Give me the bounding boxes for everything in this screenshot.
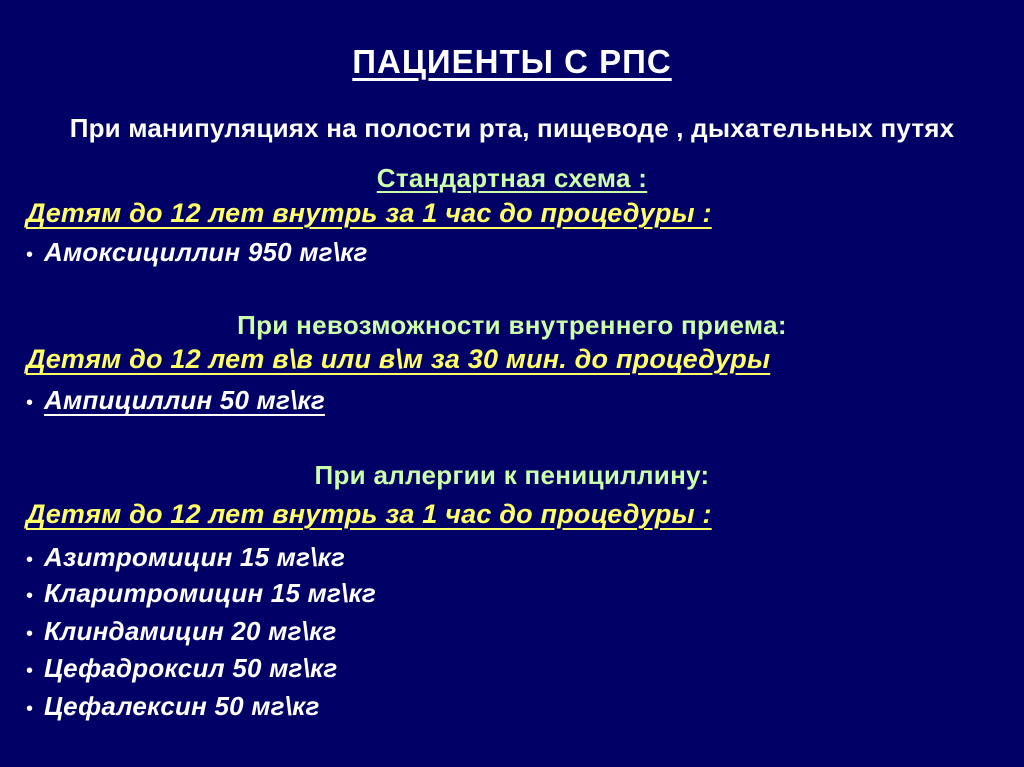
list-item-label: Азитромицин 15 мг\кг xyxy=(44,542,345,573)
section-3-heading-text: При аллергии к пенициллину: xyxy=(315,460,710,491)
list-item: • Азитромицин 15 мг\кг xyxy=(0,542,1024,573)
section-1-subheading-text: Детям до 12 лет внутрь за 1 час до проце… xyxy=(26,198,712,229)
bullet-icon: • xyxy=(0,550,44,570)
list-item-label: Цефадроксил 50 мг\кг xyxy=(44,653,337,684)
section-3-subheading: Детям до 12 лет внутрь за 1 час до проце… xyxy=(0,499,1024,530)
intro-line-text: При манипуляциях на полости рта, пищевод… xyxy=(70,113,955,144)
page-title-text: ПАЦИЕНТЫ С РПС xyxy=(352,43,671,80)
list-item-label: Цефалексин 50 мг\кг xyxy=(44,691,320,722)
list-item-label: Кларитромицин 15 мг\кг xyxy=(44,578,376,609)
bullet-icon: • xyxy=(0,624,44,644)
section-3-heading: При аллергии к пенициллину: xyxy=(0,460,1024,491)
list-item: • Цефалексин 50 мг\кг xyxy=(0,691,1024,722)
section-2-subheading: Детям до 12 лет в\в или в\м за 30 мин. д… xyxy=(0,344,1024,375)
section-2-subheading-text: Детям до 12 лет в\в или в\м за 30 мин. д… xyxy=(26,344,770,375)
page-title: ПАЦИЕНТЫ С РПС xyxy=(0,44,1024,80)
section-1-subheading: Детям до 12 лет внутрь за 1 час до проце… xyxy=(0,198,1024,229)
list-item-label: Ампициллин 50 мг\кг xyxy=(44,385,325,416)
list-item-label: Амоксициллин 950 мг\кг xyxy=(44,237,368,268)
bullet-icon: • xyxy=(0,586,44,606)
list-item: • Кларитромицин 15 мг\кг xyxy=(0,578,1024,609)
section-1-heading: Стандартная схема : xyxy=(0,163,1024,194)
presentation-slide: ПАЦИЕНТЫ С РПС При манипуляциях на полос… xyxy=(0,0,1024,767)
intro-line: При манипуляциях на полости рта, пищевод… xyxy=(0,113,1024,144)
list-item: • Клиндамицин 20 мг\кг xyxy=(0,616,1024,647)
bullet-icon: • xyxy=(0,245,44,265)
list-item: • Цефадроксил 50 мг\кг xyxy=(0,653,1024,684)
list-item: • Ампициллин 50 мг\кг xyxy=(0,385,1024,416)
section-3-subheading-text: Детям до 12 лет внутрь за 1 час до проце… xyxy=(26,499,712,530)
section-1-heading-text: Стандартная схема : xyxy=(377,163,647,194)
list-item: • Амоксициллин 950 мг\кг xyxy=(0,237,1024,268)
section-2-heading: При невозможности внутреннего приема: xyxy=(0,310,1024,341)
list-item-label: Клиндамицин 20 мг\кг xyxy=(44,616,337,647)
section-2-heading-text: При невозможности внутреннего приема: xyxy=(237,310,787,341)
bullet-icon: • xyxy=(0,699,44,719)
bullet-icon: • xyxy=(0,393,44,413)
bullet-icon: • xyxy=(0,661,44,681)
